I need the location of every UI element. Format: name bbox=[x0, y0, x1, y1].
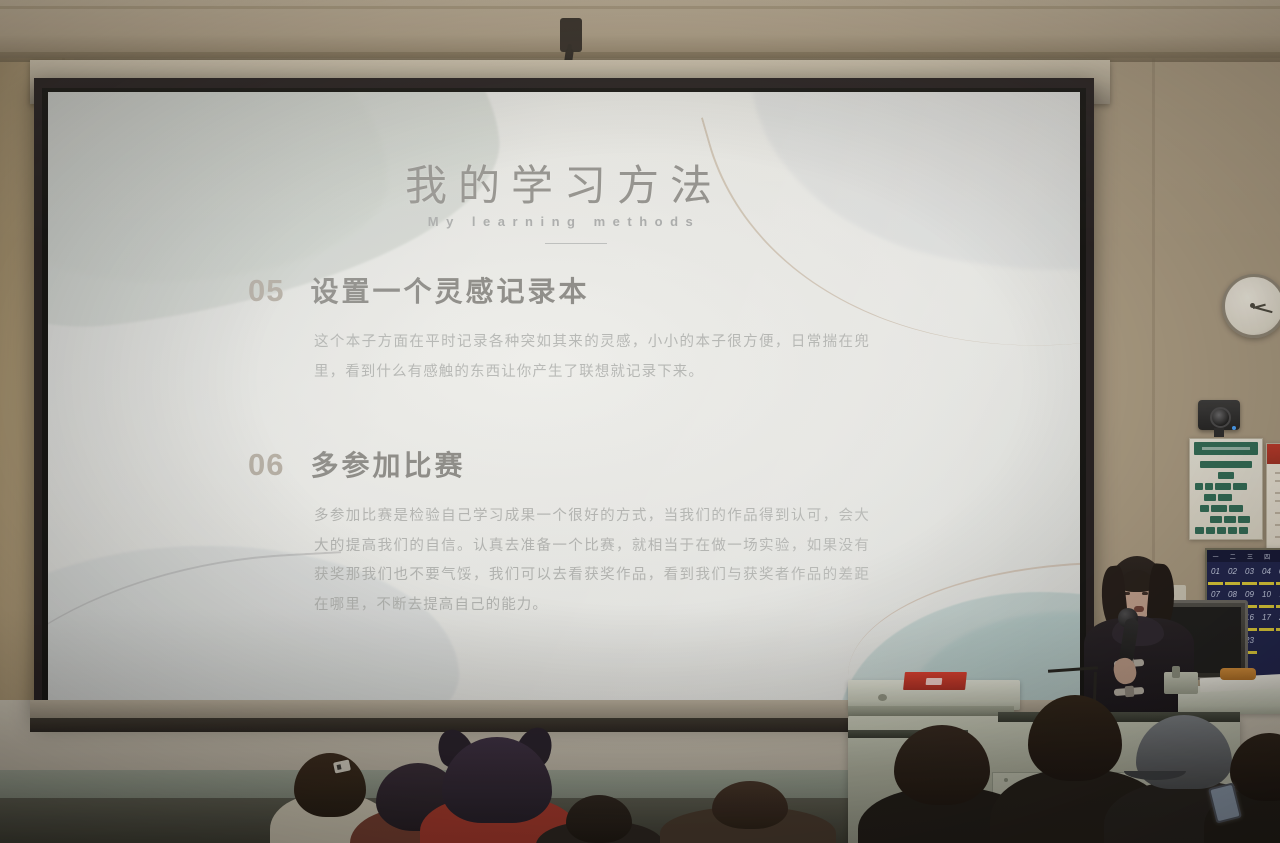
roster-day-number: 03 bbox=[1241, 567, 1258, 576]
desk-orange-item bbox=[1220, 668, 1256, 680]
roster-cell: 05 bbox=[1275, 564, 1280, 587]
flowchart-poster bbox=[1189, 438, 1263, 540]
poster-text-line bbox=[1275, 524, 1280, 526]
clock-minute-hand bbox=[1253, 306, 1273, 313]
audience-head bbox=[566, 795, 632, 843]
audience-head bbox=[294, 753, 366, 817]
audience-head bbox=[1230, 733, 1280, 801]
roster-day-number: 08 bbox=[1224, 590, 1241, 599]
poster-node bbox=[1218, 472, 1234, 479]
poster-node bbox=[1206, 527, 1215, 534]
slide-subtitle: My learning methods bbox=[48, 214, 1080, 229]
roster-day-bar bbox=[1225, 582, 1240, 585]
roster-day-number: 07 bbox=[1207, 590, 1224, 599]
audience-head bbox=[1028, 695, 1122, 781]
audience-head bbox=[894, 725, 990, 805]
poster-node bbox=[1218, 494, 1232, 501]
poster-node-row bbox=[1195, 483, 1247, 490]
slide-content: 我的学习方法 My learning methods 05 设置一个灵感记录本 … bbox=[48, 92, 1080, 700]
roster-day-number: 17 bbox=[1258, 613, 1275, 622]
ceiling-camera-icon bbox=[1198, 400, 1240, 430]
wall-seam-right bbox=[1152, 40, 1155, 600]
roster-day-number: 20 bbox=[1275, 613, 1280, 622]
poster-node bbox=[1205, 483, 1213, 490]
clock-center bbox=[1250, 303, 1255, 308]
audience-member-3 bbox=[432, 733, 562, 843]
section-05-body: 这个本子方面在平时记录各种突如其来的灵感，小小的本子很方便，日常揣在兜里，看到什… bbox=[314, 328, 870, 387]
section-05-header: 05 设置一个灵感记录本 bbox=[248, 270, 908, 310]
roster-cell: 04 bbox=[1258, 564, 1275, 587]
roster-day-bar bbox=[1276, 628, 1280, 631]
audience-member-4 bbox=[546, 791, 650, 843]
poster-text-line bbox=[1275, 492, 1280, 494]
poster-node bbox=[1200, 505, 1209, 512]
section-05-heading: 设置一个灵感记录本 bbox=[310, 270, 589, 310]
poster-header bbox=[1194, 442, 1258, 455]
poster-node-row bbox=[1210, 516, 1250, 523]
section-06-number: 06 bbox=[248, 447, 284, 483]
poster-text-line bbox=[1275, 500, 1280, 502]
notice-poster-header bbox=[1267, 444, 1280, 464]
roster-cell: 11 bbox=[1275, 587, 1280, 610]
roster-cell: 03 bbox=[1241, 564, 1258, 587]
poster-node bbox=[1195, 483, 1203, 490]
poster-node bbox=[1204, 494, 1216, 501]
poster-node bbox=[1239, 527, 1248, 534]
section-06-body: 多参加比赛是检验自己学习成果一个很好的方式，当我们的作品得到认可，会大大的提高我… bbox=[314, 502, 870, 621]
slide-section-06: 06 多参加比赛 多参加比赛是检验自己学习成果一个很好的方式，当我们的作品得到认… bbox=[248, 444, 908, 621]
classroom-scene: 我的学习方法 My learning methods 05 设置一个灵感记录本 … bbox=[0, 0, 1280, 843]
roster-cell: 17 bbox=[1258, 610, 1275, 633]
poster-node bbox=[1229, 505, 1243, 512]
poster-node bbox=[1215, 483, 1231, 490]
roster-day-bar bbox=[1259, 605, 1274, 608]
roster-header: 一二三四五 bbox=[1207, 550, 1280, 562]
camera-mount bbox=[1214, 428, 1224, 437]
poster-node bbox=[1238, 516, 1250, 523]
poster-text-line bbox=[1275, 480, 1280, 482]
ceiling-seam bbox=[0, 6, 1280, 9]
roster-day-number: 05 bbox=[1275, 567, 1280, 576]
section-05-number: 05 bbox=[248, 273, 284, 309]
roster-header-cell: 一 bbox=[1213, 552, 1219, 561]
poster-node bbox=[1224, 516, 1236, 523]
desk-red-item bbox=[903, 672, 967, 690]
roster-day-number: 11 bbox=[1275, 590, 1280, 599]
poster-text-line bbox=[1275, 512, 1280, 514]
roster-day-bar bbox=[1276, 582, 1280, 585]
audience-head bbox=[712, 781, 788, 829]
wall-clock bbox=[1222, 274, 1280, 338]
roster-cell: 02 bbox=[1224, 564, 1241, 587]
poster-node bbox=[1233, 483, 1247, 490]
desk-edge-left bbox=[848, 706, 1014, 716]
roster-day-number: 01 bbox=[1207, 567, 1224, 576]
presenter-eye-right bbox=[1142, 592, 1148, 595]
poster-node bbox=[1211, 505, 1227, 512]
roster-day-bar bbox=[1259, 628, 1274, 631]
roster-cell: 10 bbox=[1258, 587, 1275, 610]
roster-day-number: 09 bbox=[1241, 590, 1258, 599]
section-06-heading: 多参加比赛 bbox=[310, 444, 465, 484]
desk-clamp bbox=[1164, 672, 1198, 694]
roster-day-bar bbox=[1242, 582, 1257, 585]
roster-header-cell: 四 bbox=[1264, 552, 1270, 561]
poster-node bbox=[1210, 516, 1222, 523]
poster-node-row bbox=[1195, 527, 1248, 534]
slide-section-05: 05 设置一个灵感记录本 这个本子方面在平时记录各种突如其来的灵感，小小的本子很… bbox=[248, 270, 908, 387]
poster-text-line bbox=[1275, 472, 1280, 474]
poster-node bbox=[1200, 461, 1252, 468]
cable-grommet bbox=[878, 694, 887, 701]
notice-poster bbox=[1266, 443, 1280, 557]
slide-title: 我的学习方法 bbox=[48, 152, 1080, 213]
title-divider bbox=[545, 243, 607, 244]
camera-lens-icon bbox=[1210, 407, 1231, 428]
poster-node bbox=[1217, 527, 1226, 534]
roster-cell: 01 bbox=[1207, 564, 1224, 587]
camera-led-icon bbox=[1232, 426, 1236, 430]
roster-header-cell: 三 bbox=[1247, 552, 1253, 561]
poster-node-row bbox=[1200, 505, 1243, 512]
roster-day-number: 04 bbox=[1258, 567, 1275, 576]
roster-cell: 20 bbox=[1275, 610, 1280, 633]
roster-day-number: 10 bbox=[1258, 590, 1275, 599]
roster-day-bar bbox=[1276, 605, 1280, 608]
section-06-header: 06 多参加比赛 bbox=[248, 444, 908, 484]
poster-node bbox=[1228, 527, 1237, 534]
presentation-slide: 我的学习方法 My learning methods 05 设置一个灵感记录本 … bbox=[48, 92, 1080, 700]
poster-node bbox=[1195, 527, 1204, 534]
audience-member-9 bbox=[1216, 733, 1280, 843]
poster-text-line bbox=[1275, 536, 1280, 538]
roster-day-bar bbox=[1259, 582, 1274, 585]
poster-node-row bbox=[1204, 494, 1232, 501]
roster-day-number: 02 bbox=[1224, 567, 1241, 576]
roster-header-cell: 二 bbox=[1230, 552, 1236, 561]
audience-member-5 bbox=[660, 781, 830, 843]
roster-day-bar bbox=[1208, 582, 1223, 585]
